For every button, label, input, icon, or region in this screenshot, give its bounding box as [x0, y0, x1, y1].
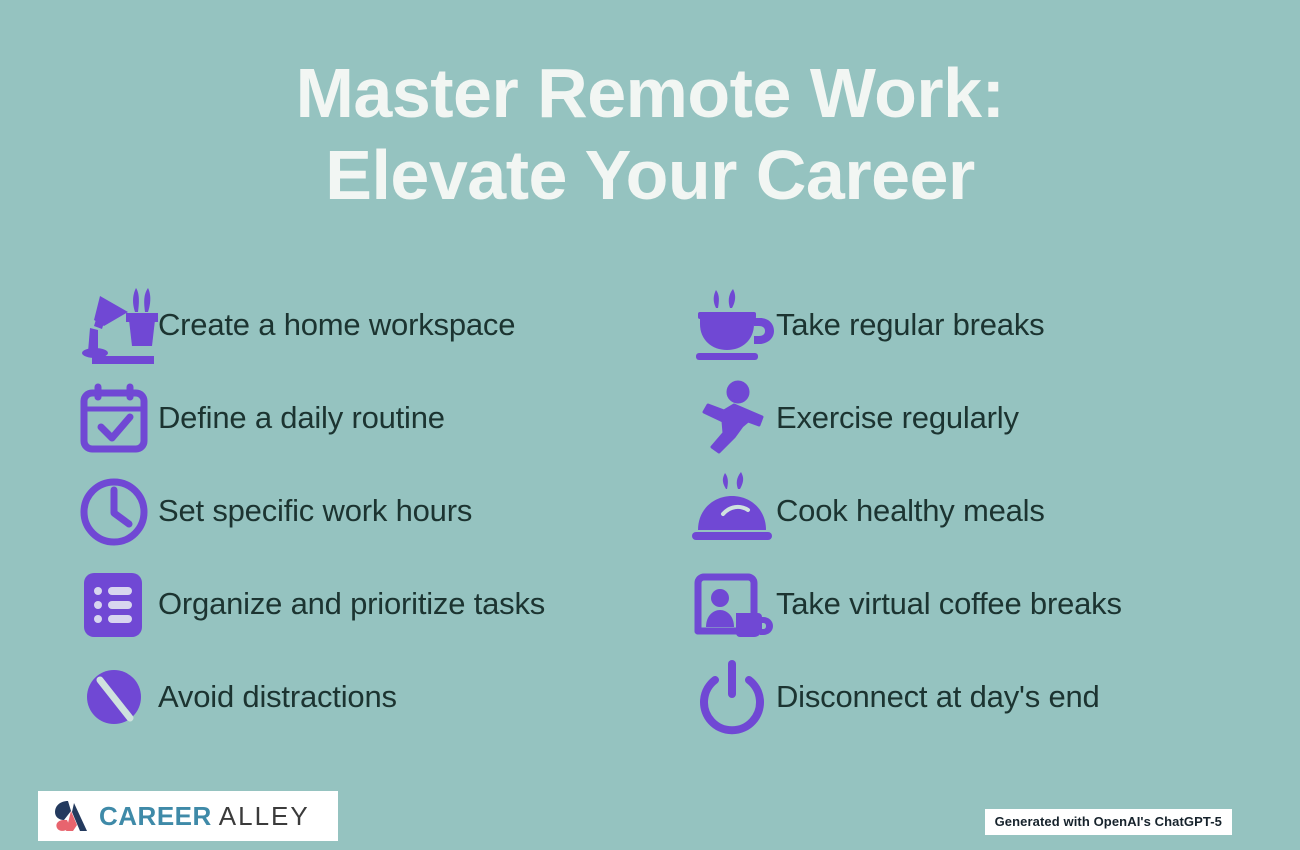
infographic-canvas: Master Remote Work: Elevate Your Career	[0, 0, 1300, 850]
career-alley-mark-icon	[54, 799, 90, 833]
page-title: Master Remote Work: Elevate Your Career	[0, 52, 1300, 216]
tips-columns: Create a home workspace Define a dai	[0, 278, 1300, 743]
title-line-2: Elevate Your Career	[0, 134, 1300, 216]
logo-word-career: CAREER	[99, 801, 212, 832]
coffee-cup-icon	[690, 286, 776, 364]
power-button-icon	[690, 658, 776, 736]
logo-word-alley: ALLEY	[219, 801, 310, 832]
video-call-coffee-icon	[690, 565, 776, 643]
tip-label: Exercise regularly	[776, 400, 1019, 436]
generated-with-badge: Generated with OpenAI's ChatGPT-5	[985, 809, 1232, 835]
running-person-icon	[690, 379, 776, 457]
tip-label: Cook healthy meals	[776, 493, 1045, 529]
tip-label: Take virtual coffee breaks	[776, 586, 1122, 622]
food-cloche-icon	[690, 472, 776, 550]
tip-label: Take regular breaks	[776, 307, 1044, 343]
tip-label: Disconnect at day's end	[776, 679, 1100, 715]
tips-column-right: Take regular breaks Exercise regularly	[0, 278, 690, 743]
title-line-1: Master Remote Work:	[0, 52, 1300, 134]
career-alley-logo[interactable]: CAREER ALLEY	[38, 791, 338, 841]
